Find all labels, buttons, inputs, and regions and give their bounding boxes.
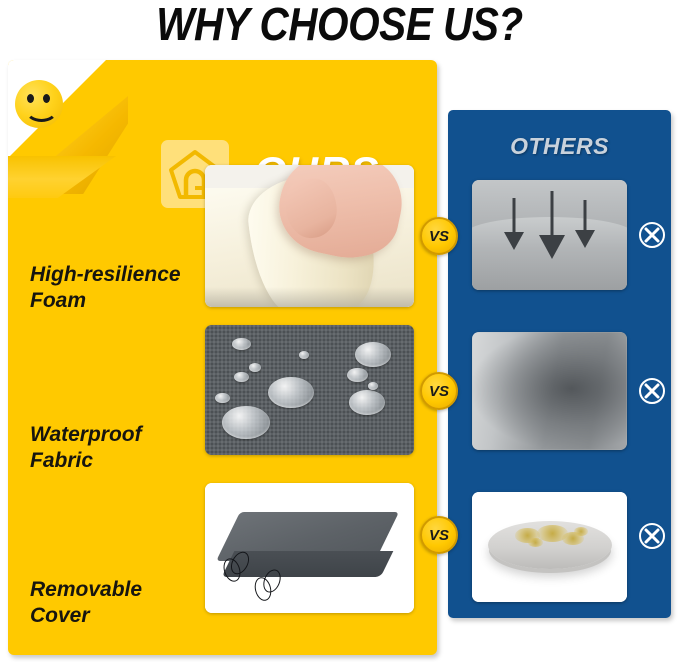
feature-label-line2: Cover	[30, 603, 210, 629]
feature-label-line1: Waterproof	[30, 422, 210, 448]
page-title: WHY CHOOSE US?	[41, 0, 639, 50]
feature-label-high-resilience-foam: High-resilience Foam	[30, 262, 210, 314]
smiley-face-icon	[15, 80, 63, 128]
circled-x-icon-row-3	[637, 521, 667, 551]
ours-image-waterproof-fabric	[205, 325, 414, 455]
ours-image-removable-cover	[205, 483, 414, 613]
others-image-stained-cushion	[472, 492, 627, 602]
feature-label-removable-cover: Removable Cover	[30, 577, 210, 629]
feature-label-line1: High-resilience	[30, 262, 210, 288]
feature-label-line2: Foam	[30, 288, 210, 314]
folded-corner-flap-lower	[8, 156, 116, 198]
feature-label-line2: Fabric	[30, 448, 210, 474]
smiley-mouth	[25, 97, 58, 122]
others-image-soaked-fabric	[472, 332, 627, 450]
vs-badge-row-2: VS	[420, 372, 458, 410]
vs-badge-row-3: VS	[420, 516, 458, 554]
circled-x-icon-row-1	[637, 220, 667, 250]
feature-label-line1: Removable	[30, 577, 210, 603]
circled-x-icon-row-2	[637, 376, 667, 406]
others-heading: OTHERS	[448, 133, 671, 160]
others-image-sagging-foam	[472, 180, 627, 290]
ours-image-high-resilience-foam	[205, 165, 414, 307]
vs-badge-row-1: VS	[420, 217, 458, 255]
feature-label-waterproof-fabric: Waterproof Fabric	[30, 422, 210, 474]
